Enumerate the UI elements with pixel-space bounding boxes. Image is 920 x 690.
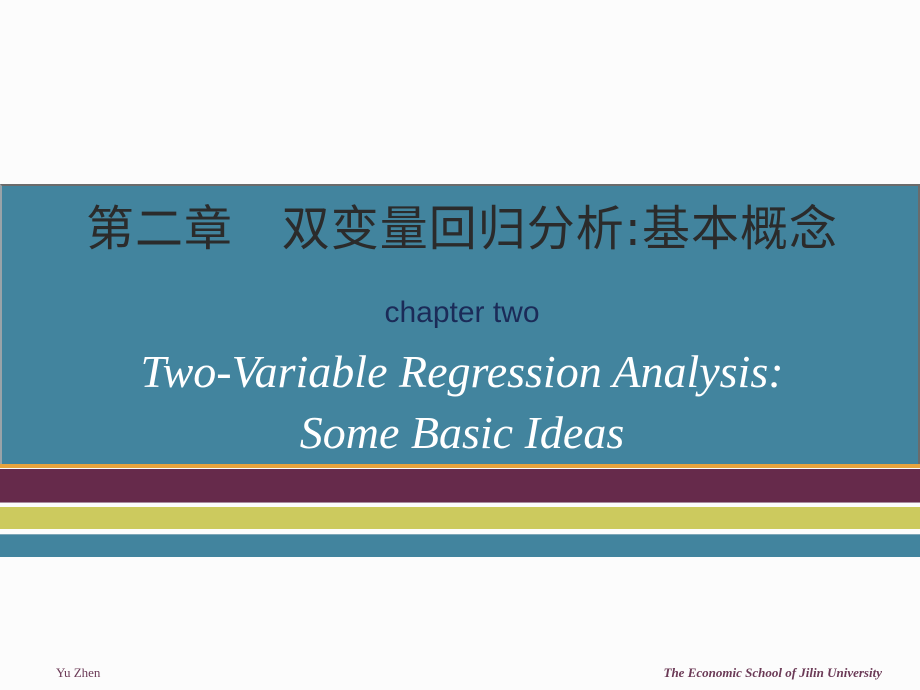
english-subheading: chapter two bbox=[2, 295, 920, 331]
english-title-line-1: Two-Variable Regression Analysis: bbox=[2, 341, 920, 402]
english-title: Two-Variable Regression Analysis: Some B… bbox=[2, 341, 920, 463]
title-panel: 第二章 双变量回归分析:基本概念 chapter two Two-Variabl… bbox=[0, 184, 920, 465]
decorative-bar-teal bbox=[0, 534, 920, 557]
decorative-bar-maroon bbox=[0, 469, 920, 503]
slide-canvas: 第二章 双变量回归分析:基本概念 chapter two Two-Variabl… bbox=[0, 0, 920, 690]
footer-author: Yu Zhen bbox=[56, 665, 100, 681]
decorative-bar-yellow bbox=[0, 507, 920, 529]
decorative-bar-orange bbox=[0, 464, 920, 468]
english-title-line-2: Some Basic Ideas bbox=[2, 402, 920, 463]
footer-institution: The Economic School of Jilin University bbox=[664, 665, 882, 681]
chinese-heading: 第二章 双变量回归分析:基本概念 bbox=[2, 198, 920, 260]
